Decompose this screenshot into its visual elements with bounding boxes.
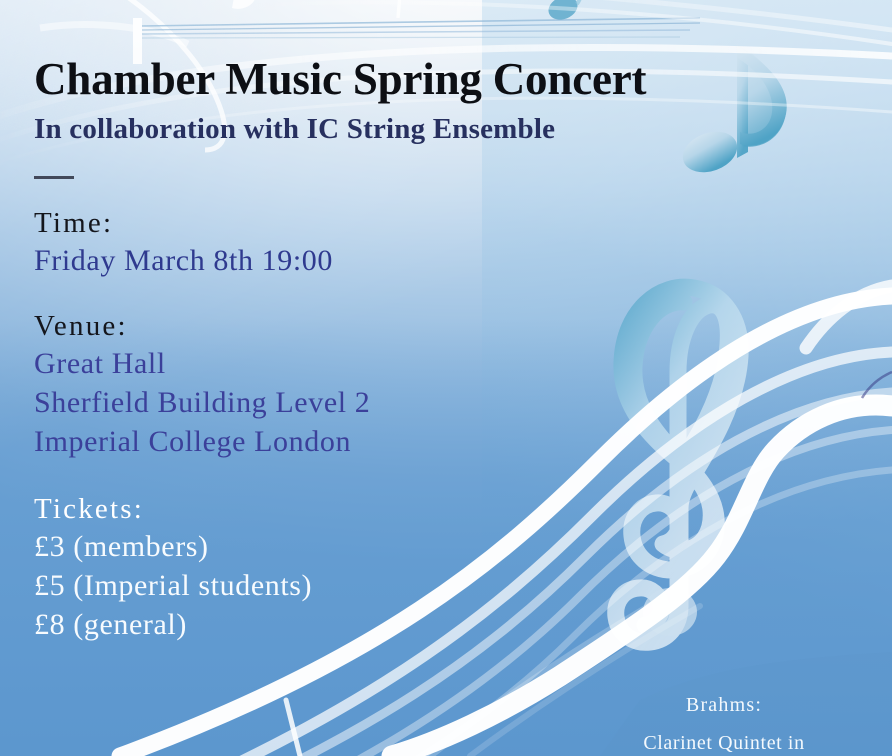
- programme-block: Brahms: Clarinet Quintet in B minor, Op.…: [574, 693, 874, 756]
- poster-content: Chamber Music Spring Concert In collabor…: [34, 56, 674, 644]
- venue-label: Venue:: [34, 308, 674, 344]
- venue-value: Great Hall Sherfield Building Level 2 Im…: [34, 344, 674, 461]
- venue-group: Venue: Great Hall Sherfield Building Lev…: [34, 308, 674, 461]
- programme-work: Clarinet Quintet in B minor, Op. 115:: [574, 731, 874, 756]
- concert-poster: Chamber Music Spring Concert In collabor…: [0, 0, 892, 756]
- time-group: Time: Friday March 8th 19:00: [34, 205, 674, 280]
- programme-composer: Brahms:: [574, 693, 874, 718]
- time-label: Time:: [34, 205, 674, 241]
- tickets-value: £3 (members) £5 (Imperial students) £8 (…: [34, 527, 674, 644]
- tickets-group: Tickets: £3 (members) £5 (Imperial stude…: [34, 491, 674, 644]
- tickets-label: Tickets:: [34, 491, 674, 527]
- page-subtitle: In collaboration with IC String Ensemble: [34, 114, 674, 146]
- page-title: Chamber Music Spring Concert: [34, 56, 674, 103]
- divider: [34, 176, 74, 179]
- time-value: Friday March 8th 19:00: [34, 241, 674, 280]
